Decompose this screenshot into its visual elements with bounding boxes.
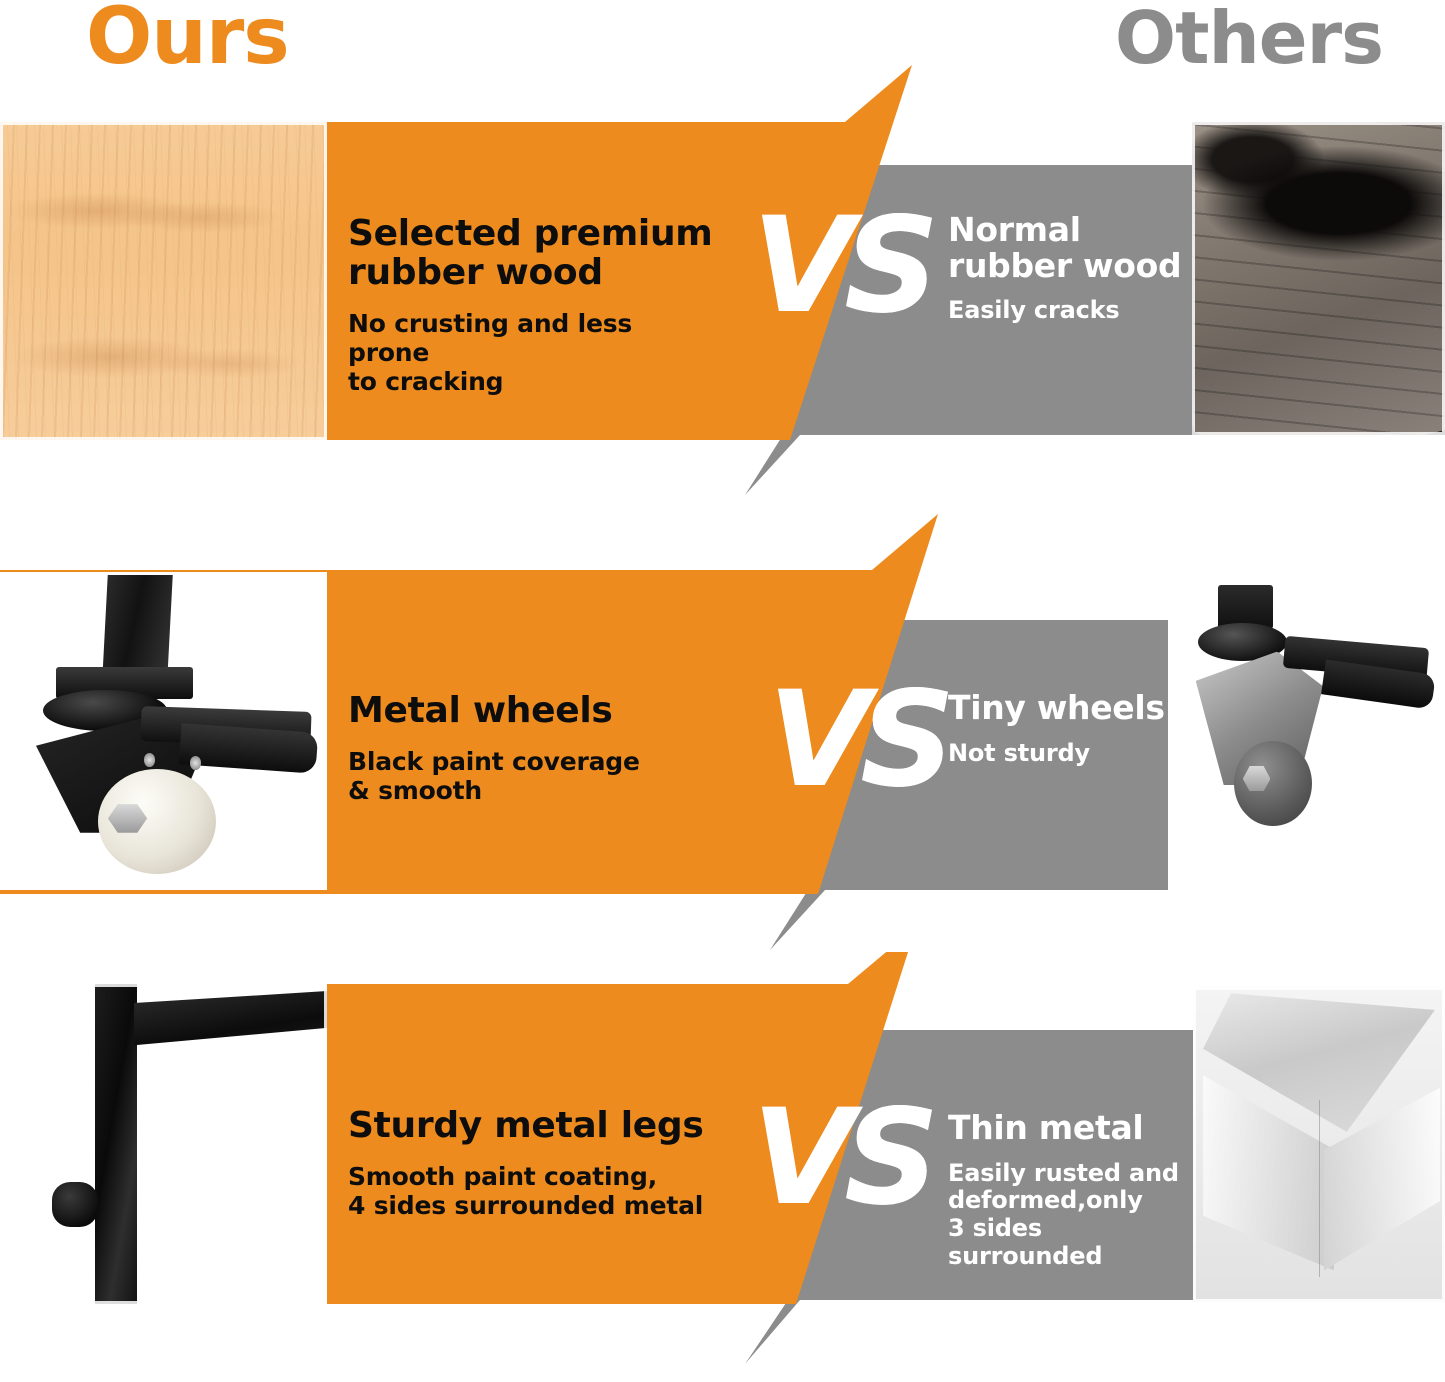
- row1-ours-subtitle-line1: No crusting and less prone: [348, 309, 632, 367]
- row3-ours-text: Sturdy metal legs Smooth paint coating, …: [348, 1107, 748, 1220]
- row2-others-title: Tiny wheels: [948, 690, 1198, 726]
- row2-vs-badge: VS: [768, 674, 945, 806]
- row1-ours-title-line2: rubber wood: [348, 252, 603, 293]
- row2-ours-subtitle-line1: Black paint coverage: [348, 747, 640, 776]
- row3-ours-title-line1: Sturdy metal legs: [348, 1105, 703, 1146]
- caster-screw-2: [190, 756, 201, 769]
- caster-table-leg: [102, 575, 173, 680]
- row3-ours-subtitle-line2: 4 sides surrounded metal: [348, 1191, 703, 1220]
- row2-ours-text: Metal wheels Black paint coverage & smoo…: [348, 692, 728, 805]
- row1-ours-subtitle-line2: to cracking: [348, 367, 503, 396]
- metal-leg-post: [95, 984, 138, 1304]
- row3-ours-title: Sturdy metal legs: [348, 1107, 748, 1146]
- row1-others-subtitle: Easily cracks: [948, 297, 1198, 325]
- comparison-row-metal-legs: Sturdy metal legs Smooth paint coating, …: [0, 952, 1445, 1382]
- comparison-row-wheels: Metal wheels Black paint coverage & smoo…: [0, 512, 1445, 962]
- row2-others-text: Tiny wheels Not sturdy: [948, 690, 1198, 767]
- row2-ours-title: Metal wheels: [348, 692, 728, 731]
- row1-ours-subtitle: No crusting and less prone to cracking: [348, 309, 718, 396]
- metal-leg-crossbeam: [134, 990, 327, 1060]
- row3-others-subtitle-line2: deformed,only: [948, 1186, 1143, 1214]
- row1-others-title: Normal rubber wood: [948, 212, 1198, 283]
- row2-ours-title-line1: Metal wheels: [348, 690, 613, 731]
- row3-others-image: [1193, 987, 1445, 1302]
- row3-others-title-line1: Thin metal: [948, 1108, 1143, 1147]
- row3-ours-subtitle: Smooth paint coating, 4 sides surrounded…: [348, 1162, 748, 1220]
- row1-ours-title-line1: Selected premium: [348, 213, 713, 254]
- row1-ours-image: [0, 122, 327, 440]
- row1-ours-image-frame: [0, 122, 327, 440]
- comparison-row-rubber-wood: Selected premium rubber wood No crusting…: [0, 60, 1445, 510]
- row3-others-text: Thin metal Easily rusted and deformed,on…: [948, 1110, 1198, 1271]
- row2-others-subtitle: Not sturdy: [948, 740, 1198, 768]
- row2-ours-subtitle: Black paint coverage & smooth: [348, 747, 728, 805]
- row3-others-subtitle-line3: 3 sides surrounded: [948, 1214, 1102, 1270]
- row3-others-title: Thin metal: [948, 1110, 1198, 1146]
- row1-others-title-line1: Normal: [948, 210, 1081, 249]
- caster-screw-1: [144, 753, 155, 766]
- row2-others-image: [1168, 572, 1445, 890]
- row1-ours-text: Selected premium rubber wood No crusting…: [348, 215, 718, 396]
- row2-others-title-line1: Tiny wheels: [948, 688, 1165, 727]
- row1-ours-title: Selected premium rubber wood: [348, 215, 718, 293]
- row1-others-image: [1192, 122, 1445, 435]
- row3-others-subtitle-line1: Easily rusted and: [948, 1159, 1179, 1187]
- row3-vs-badge: VS: [752, 1092, 929, 1224]
- row1-others-subtitle-line1: Easily cracks: [948, 296, 1119, 324]
- row2-ours-subtitle-line2: & smooth: [348, 776, 482, 805]
- row2-others-subtitle-line1: Not sturdy: [948, 739, 1090, 767]
- steel-corner-edge-line: [1319, 1100, 1320, 1276]
- row2-ours-image: [0, 572, 327, 890]
- row3-ours-image: [0, 984, 327, 1304]
- row1-others-text: Normal rubber wood Easily cracks: [948, 212, 1198, 325]
- row1-vs-badge: VS: [752, 200, 929, 332]
- metal-leg-adjustment-knob: [52, 1182, 98, 1227]
- row1-others-title-line2: rubber wood: [948, 246, 1181, 285]
- row1-others-image-frame: [1192, 122, 1445, 435]
- row3-ours-subtitle-line1: Smooth paint coating,: [348, 1162, 657, 1191]
- row3-others-subtitle: Easily rusted and deformed,only 3 sides …: [948, 1160, 1198, 1271]
- comparison-infographic: Ours Others Selected premium rubber wood…: [0, 0, 1445, 1382]
